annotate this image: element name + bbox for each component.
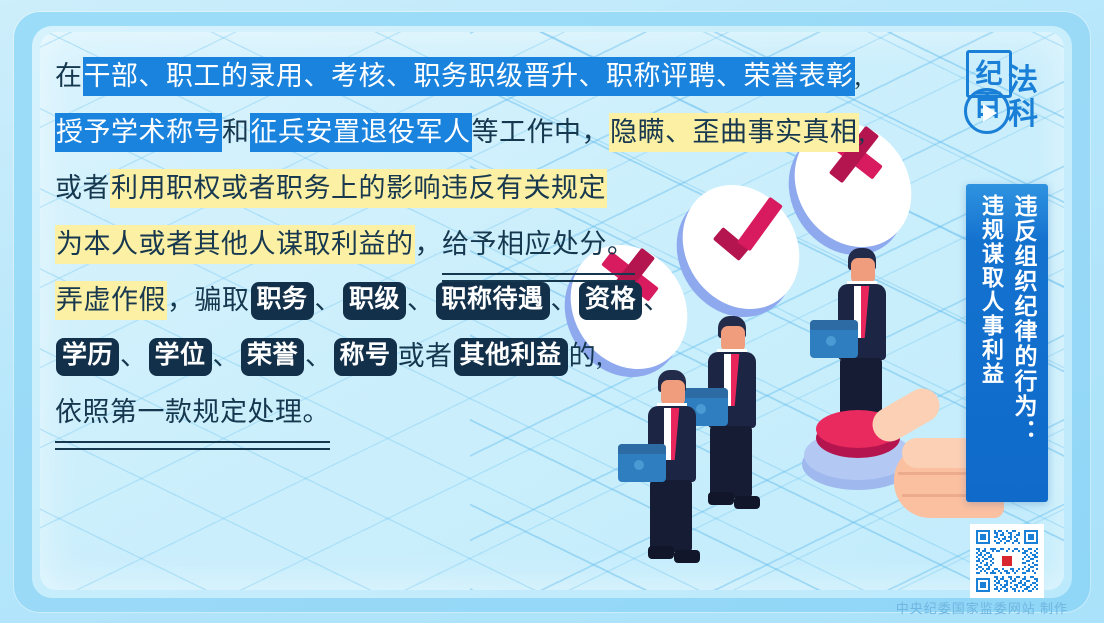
segment-plain: ，骗取 [167, 285, 250, 315]
segment-highlight-yellow: 弄虚作假 [55, 281, 167, 320]
credit-text: 中央纪委国家监委网站 制作 [838, 598, 1068, 617]
logo-char-ke: 科 [1008, 100, 1038, 130]
segment-plain: 或者 [55, 173, 110, 203]
segment-plain: 和 [222, 117, 250, 147]
segment-plain: 的, [569, 341, 604, 371]
side-panel: 纪 法 百 科 违反组织纪律的行为： 违规谋取人事利益 [962, 32, 1048, 590]
text-line-7: 依照第一款规定处理。 [55, 384, 935, 440]
qr-code-pattern [974, 528, 1040, 594]
text-line-4: 为本人或者其他人谋取利益的，给予相应处分。 [55, 216, 935, 272]
segment-double-underline: 依照第一款规定处理。 [55, 384, 330, 442]
qr-svg [974, 528, 1040, 594]
segment-plain: 、 [120, 341, 148, 371]
text-line-2: 授予学术称号和征兵安置退役军人等工作中，隐瞒、歪曲事实真相, [55, 104, 935, 160]
logo-circle-char: 百 [964, 88, 1010, 134]
segment-highlight-blue: 授予学术称号 [55, 113, 222, 152]
logo-char-fa: 法 [1008, 66, 1038, 96]
term-badge: 荣誉 [241, 338, 304, 376]
segment-plain: 或者 [398, 341, 453, 371]
segment-plain: 等工作中， [472, 117, 610, 147]
segment-plain: 、 [551, 285, 579, 315]
segment-highlight-yellow: 利用职权或者职务上的影响违反有关规定 [110, 169, 607, 208]
segment-plain: 、 [643, 285, 671, 315]
term-badge: 学历 [56, 338, 119, 376]
text-line-6: 学历、学位、荣誉、称号或者其他利益的, [55, 328, 935, 384]
segment-highlight-yellow: 隐瞒、歪曲事实真相 [609, 113, 859, 152]
segment-plain: 、 [305, 341, 333, 371]
term-badge: 资格 [579, 282, 642, 320]
segment-plain: 、 [315, 285, 343, 315]
segment-plain: 在 [55, 61, 83, 91]
banner-sub-column: 违规谋取人事利益 [976, 194, 1006, 502]
logo-char-ji: 纪 [976, 61, 1003, 88]
banner-main-column: 违反组织纪律的行为： [1008, 194, 1038, 502]
segment-plain: , [859, 117, 866, 147]
term-badge: 其他利益 [454, 338, 568, 376]
term-badge: 职称待遇 [436, 282, 550, 320]
term-badge: 学位 [149, 338, 212, 376]
segment-highlight-blue: 干部、职工的录用、考核、职务职级晋升、职称评聘、荣誉表彰 [83, 57, 855, 96]
text-line-3: 或者利用职权或者职务上的影响违反有关规定 [55, 160, 935, 216]
segment-plain: , [855, 61, 862, 91]
term-badge: 称号 [334, 338, 397, 376]
body-text: 在干部、职工的录用、考核、职务职级晋升、职称评聘、荣誉表彰, 授予学术称号和征兵… [55, 48, 935, 440]
term-badge: 职务 [251, 282, 314, 320]
text-line-1: 在干部、职工的录用、考核、职务职级晋升、职称评聘、荣誉表彰, [55, 48, 935, 104]
segment-highlight-yellow: 为本人或者其他人谋取利益的 [55, 225, 415, 264]
red-seal-icon [1002, 556, 1012, 566]
segment-plain: 、 [213, 341, 241, 371]
segment-plain: 、 [407, 285, 435, 315]
segment-highlight-blue: 征兵安置退役军人 [250, 113, 472, 152]
vertical-banner: 违反组织纪律的行为： 违规谋取人事利益 [966, 184, 1048, 502]
segment-plain: ， [415, 229, 443, 259]
term-badge: 职级 [343, 282, 406, 320]
poster-canvas: 在干部、职工的录用、考核、职务职级晋升、职称评聘、荣誉表彰, 授予学术称号和征兵… [0, 0, 1104, 623]
qr-code[interactable] [970, 524, 1044, 598]
play-triangle-icon [983, 104, 997, 122]
brand-logo: 纪 法 百 科 [962, 48, 1048, 160]
segment-double-underline: 给予相应处分。 [442, 216, 635, 274]
